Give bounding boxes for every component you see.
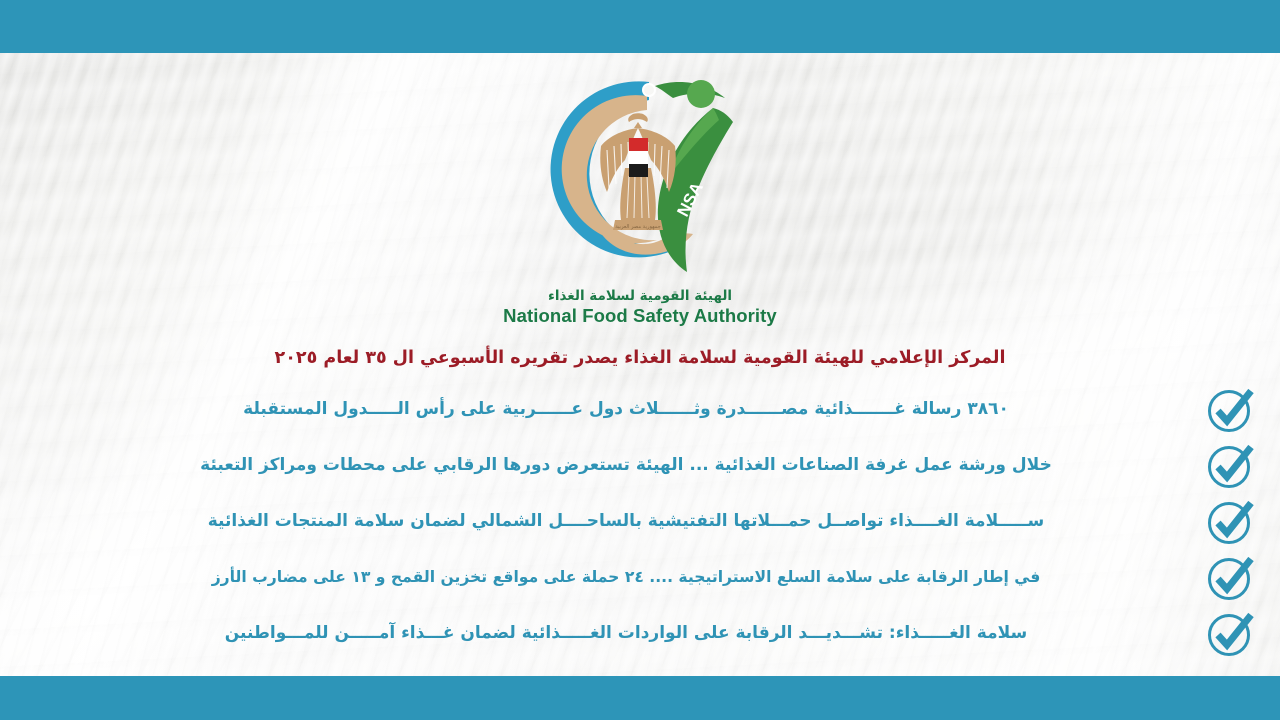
bullet-text: خلال ورشة عمل غرفة الصناعات الغذائية ...…	[18, 456, 1200, 476]
bullet-text: ٣٨٦٠ رسالة غـــــــذائية مصــــــدرة وثـ…	[18, 400, 1200, 420]
report-headline: المركز الإعلامي للهيئة القومية لسلامة ال…	[0, 348, 1280, 368]
check-circle-icon	[1200, 553, 1262, 603]
check-circle-icon	[1200, 385, 1262, 435]
nfsa-logo-icon: NSA	[537, 72, 743, 287]
check-circle-icon	[1200, 609, 1262, 659]
egypt-flag-shield-icon	[629, 138, 648, 177]
list-item: ٣٨٦٠ رسالة غـــــــذائية مصــــــدرة وثـ…	[0, 382, 1280, 438]
bullet-text: ســـــلامة الغــــذاء تواصــل حمـــلاتها…	[18, 512, 1200, 532]
logo-name-english: National Food Safety Authority	[503, 305, 777, 327]
list-item: سلامة الغـــــذاء: تشـــديـــد الرقابة ع…	[0, 606, 1280, 662]
list-item: في إطار الرقابة على سلامة السلع الاسترات…	[0, 550, 1280, 606]
list-item: خلال ورشة عمل غرفة الصناعات الغذائية ...…	[0, 438, 1280, 494]
logo-name-arabic: الهيئة القومية لسلامة الغذاء	[548, 289, 732, 305]
news-bullet-list: ٣٨٦٠ رسالة غـــــــذائية مصــــــدرة وثـ…	[0, 382, 1280, 662]
svg-text:جمهورية مصر العربية: جمهورية مصر العربية	[615, 224, 661, 230]
check-circle-icon	[1200, 497, 1262, 547]
bottom-banner-bar	[0, 676, 1280, 720]
bullet-text: سلامة الغـــــذاء: تشـــديـــد الرقابة ع…	[18, 624, 1200, 644]
bullet-text: في إطار الرقابة على سلامة السلع الاسترات…	[18, 569, 1200, 587]
list-item: ســـــلامة الغــــذاء تواصــل حمـــلاتها…	[0, 494, 1280, 550]
poster-canvas: NSA	[0, 0, 1280, 720]
organization-logo-block: NSA	[0, 72, 1280, 326]
check-circle-icon	[1200, 441, 1262, 491]
top-banner-bar	[0, 0, 1280, 53]
